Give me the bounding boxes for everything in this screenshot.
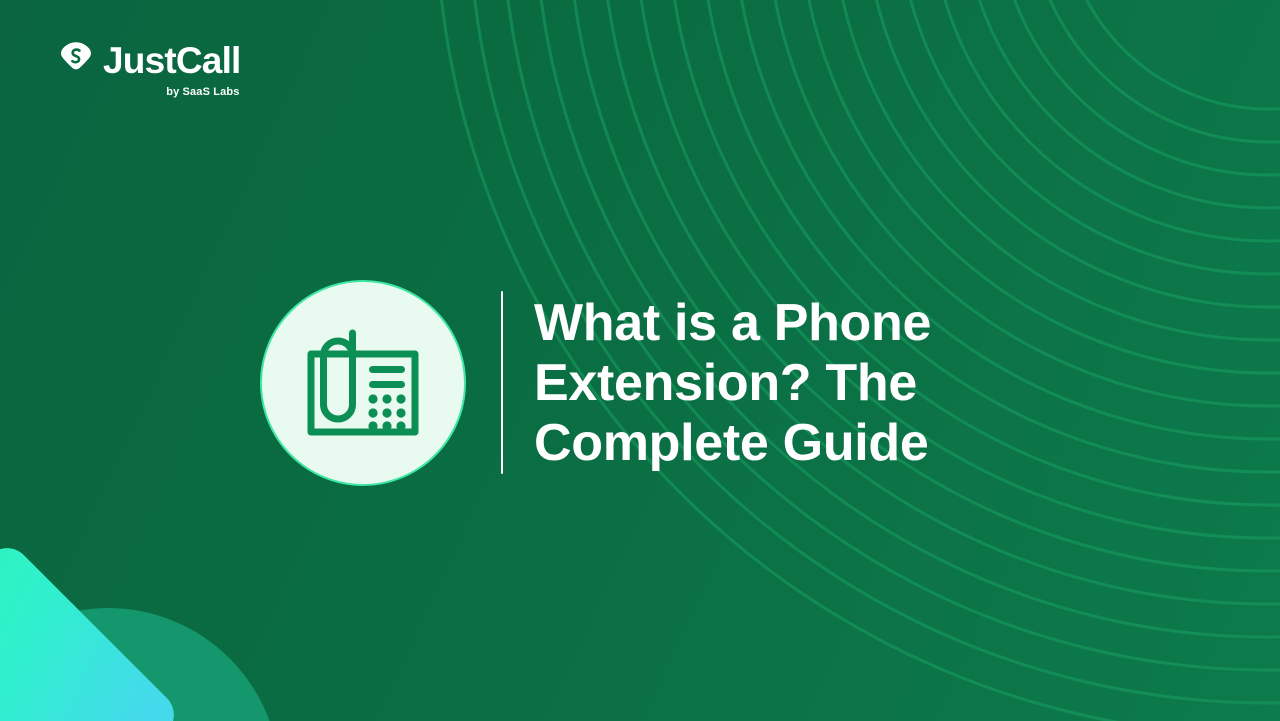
hero-icon-badge — [262, 282, 464, 484]
hero-divider — [501, 291, 503, 474]
brand-logo[interactable]: JustCall by SaaS Labs — [58, 40, 241, 98]
logo-tagline: by SaaS Labs — [166, 86, 239, 98]
page-title: What is a Phone Extension? The Complete … — [534, 293, 931, 473]
bottom-left-rounded-square — [0, 538, 184, 721]
bottom-left-circle — [0, 608, 280, 721]
desk-phone-icon — [305, 328, 421, 438]
logo-wordmark: JustCall — [103, 42, 241, 79]
slide-canvas: JustCall by SaaS Labs — [0, 0, 1280, 721]
justcall-logo-mark-icon — [58, 40, 94, 81]
hero-block: What is a Phone Extension? The Complete … — [262, 258, 931, 508]
logo-row: JustCall — [58, 40, 241, 81]
